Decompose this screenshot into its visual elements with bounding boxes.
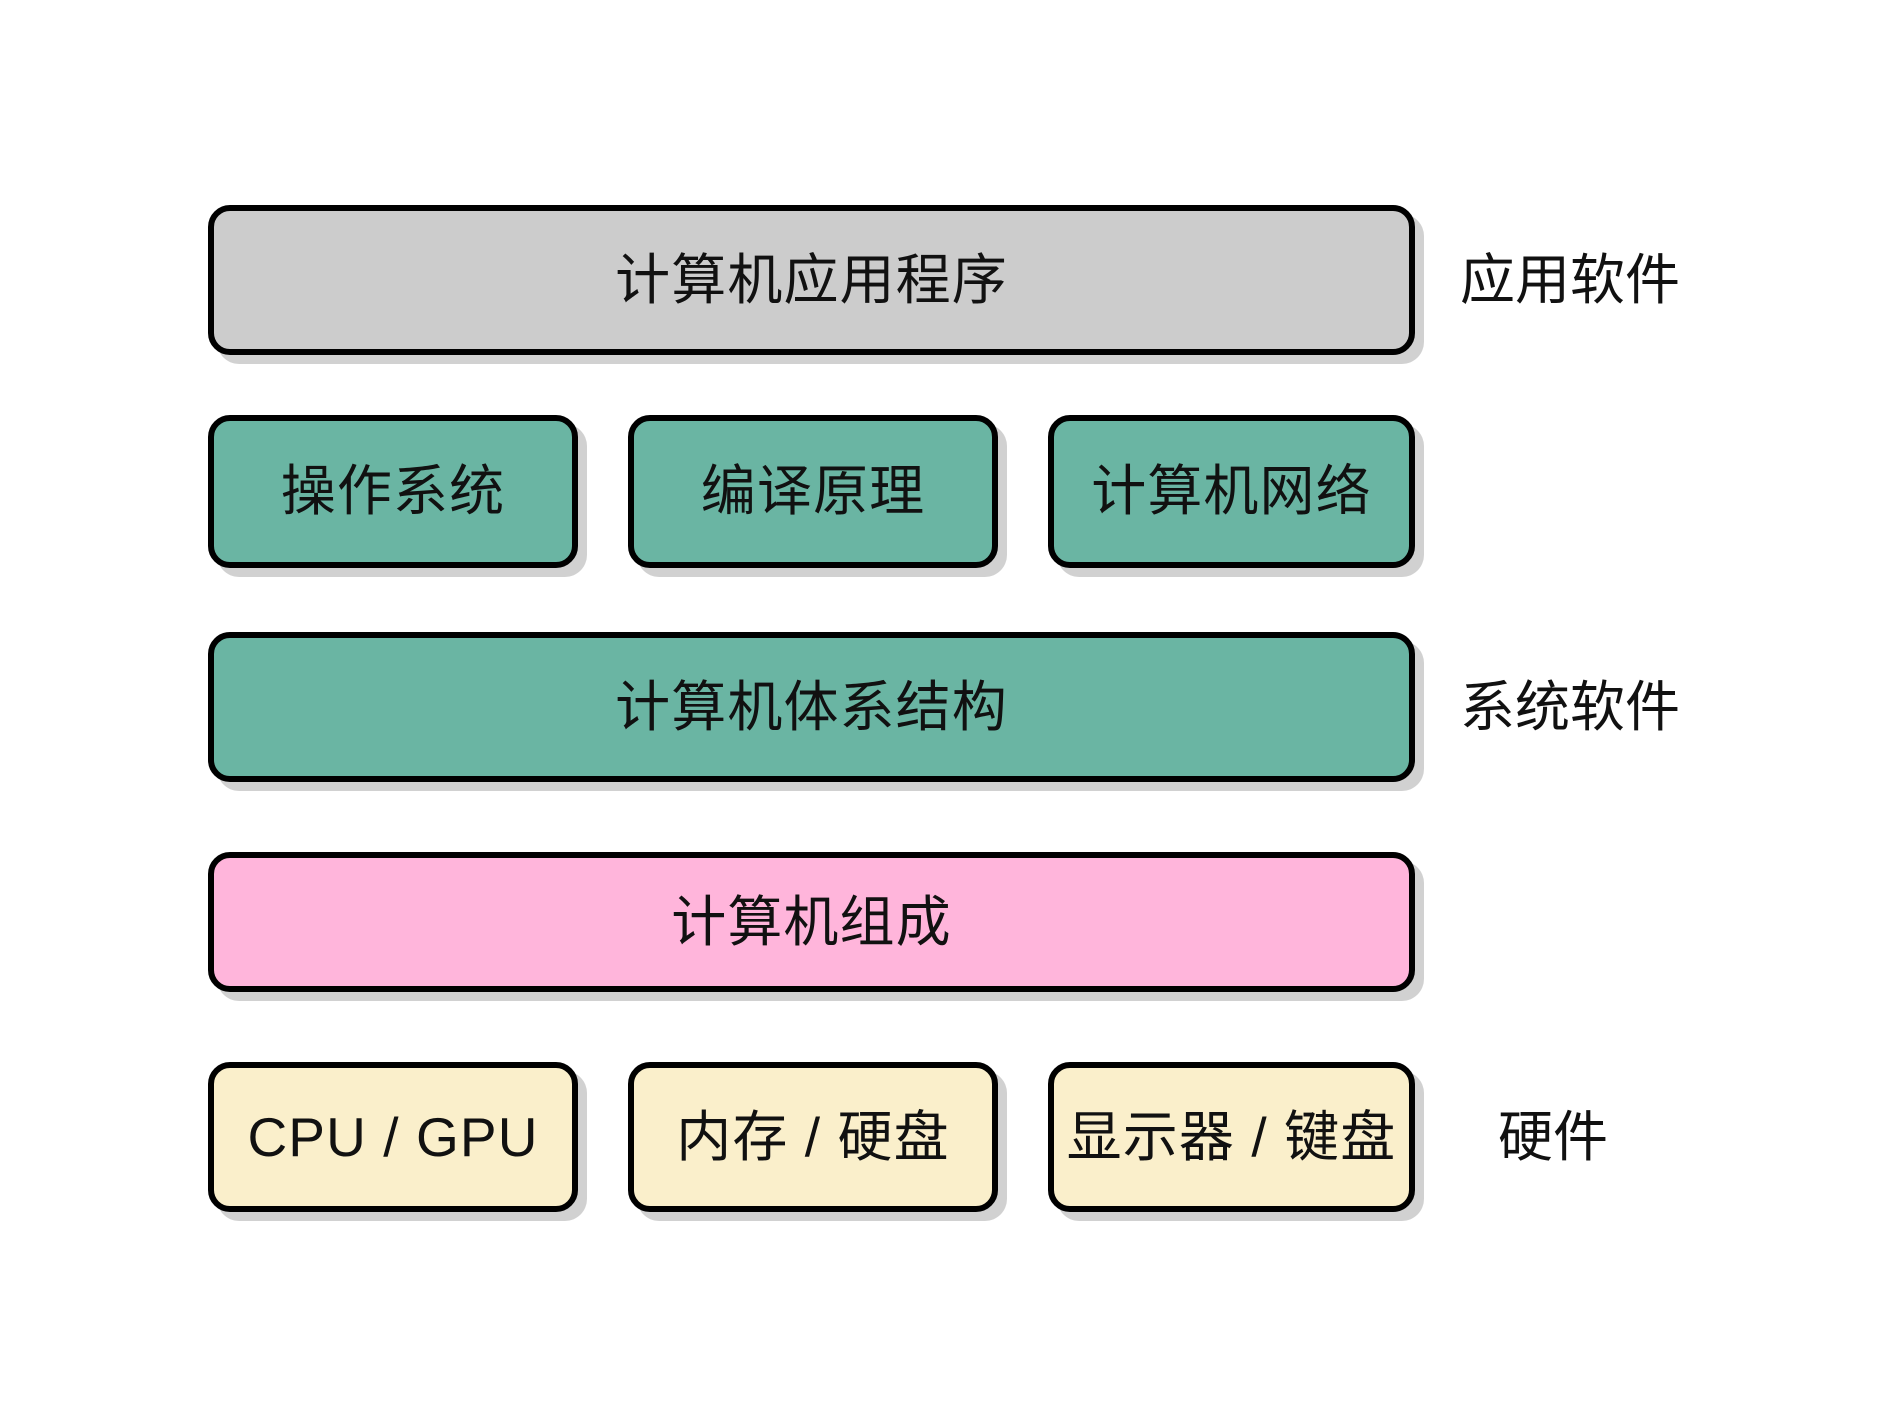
- layer-box-compiler-principles[interactable]: 编译原理: [628, 415, 998, 568]
- diagram-canvas: 计算机应用程序 应用软件 操作系统 编译原理 计算机网络 计算机体系结构 系统软…: [0, 0, 1879, 1405]
- layer-box-label: 计算机体系结构: [615, 680, 1008, 735]
- layer-box-monitor-keyboard[interactable]: 显示器 / 键盘: [1048, 1062, 1415, 1212]
- layer-box-operating-system[interactable]: 操作系统: [208, 415, 578, 568]
- layer-box-label: 内存 / 硬盘: [676, 1110, 950, 1165]
- layer-box-label: 显示器 / 键盘: [1067, 1110, 1397, 1165]
- layer-box-label: 计算机应用程序: [615, 253, 1008, 308]
- layer-box-label: 计算机网络: [1091, 464, 1372, 519]
- layer-box-computer-architecture[interactable]: 计算机体系结构: [208, 632, 1415, 782]
- side-label-application-software: 应用软件: [1460, 253, 1680, 308]
- layer-box-label: 计算机组成: [671, 895, 952, 950]
- side-label-system-software: 系统软件: [1460, 680, 1680, 735]
- side-label-hardware: 硬件: [1498, 1110, 1608, 1165]
- layer-box-computer-organization[interactable]: 计算机组成: [208, 852, 1415, 992]
- layer-box-label: CPU / GPU: [247, 1110, 538, 1165]
- layer-box-label: 编译原理: [701, 464, 925, 519]
- layer-box-memory-disk[interactable]: 内存 / 硬盘: [628, 1062, 998, 1212]
- layer-box-label: 操作系统: [281, 464, 505, 519]
- layer-box-cpu-gpu[interactable]: CPU / GPU: [208, 1062, 578, 1212]
- layer-box-computer-application-program[interactable]: 计算机应用程序: [208, 205, 1415, 355]
- layer-box-computer-networks[interactable]: 计算机网络: [1048, 415, 1415, 568]
